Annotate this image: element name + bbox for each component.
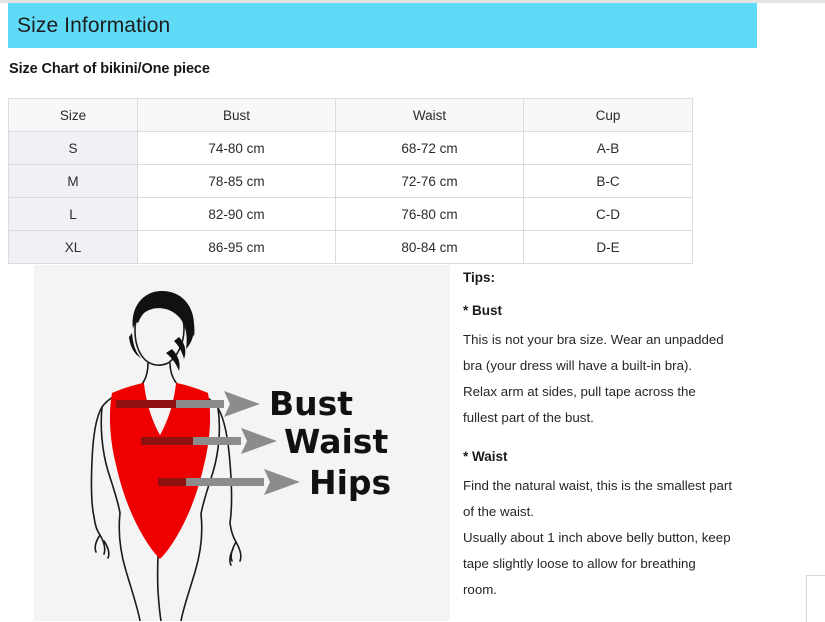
cell-size: S [9, 132, 138, 165]
table-row: M 78-85 cm 72-76 cm B-C [9, 165, 693, 198]
table-row: XL 86-95 cm 80-84 cm D-E [9, 231, 693, 264]
cell-size: L [9, 198, 138, 231]
cell-bust: 86-95 cm [138, 231, 336, 264]
size-chart-table: Size Bust Waist Cup S 74-80 cm 68-72 cm … [8, 98, 693, 264]
tip-line: of the waist. [463, 499, 763, 525]
body-figure-svg: Bust Waist Hips [34, 265, 450, 621]
bottom-section: Bust Waist Hips Tips: * Bust This is not… [0, 265, 825, 621]
cell-size: XL [9, 231, 138, 264]
table-header-row: Size Bust Waist Cup [9, 99, 693, 132]
cell-cup: C-D [524, 198, 693, 231]
page-banner: Size Information [8, 3, 757, 48]
label-waist: Waist [284, 422, 388, 461]
label-bust: Bust [269, 384, 353, 423]
tip-line: room. [463, 577, 763, 603]
tip-line: Usually about 1 inch above belly button,… [463, 525, 763, 551]
size-information-page: Size Information Size Chart of bikini/On… [0, 0, 825, 621]
tip-line: This is not your bra size. Wear an unpad… [463, 327, 763, 353]
cell-bust: 74-80 cm [138, 132, 336, 165]
tip-line: tape slightly loose to allow for breathi… [463, 551, 763, 577]
tip-line: Find the natural waist, this is the smal… [463, 473, 763, 499]
cell-bust: 78-85 cm [138, 165, 336, 198]
cell-bust: 82-90 cm [138, 198, 336, 231]
tip-title-waist: * Waist [463, 449, 763, 464]
tip-line: Relax arm at sides, pull tape across the [463, 379, 763, 405]
panel-corner-edge [806, 575, 825, 622]
column-header-waist: Waist [336, 99, 524, 132]
tip-line: bra (your dress will have a built-in bra… [463, 353, 763, 379]
page-title: Size Information [8, 14, 170, 38]
tips-panel: Tips: * Bust This is not your bra size. … [463, 270, 763, 621]
tips-heading: Tips: [463, 270, 763, 285]
cell-waist: 80-84 cm [336, 231, 524, 264]
table-row: S 74-80 cm 68-72 cm A-B [9, 132, 693, 165]
cell-waist: 76-80 cm [336, 198, 524, 231]
cell-cup: D-E [524, 231, 693, 264]
tip-block-bust: * Bust This is not your bra size. Wear a… [463, 303, 763, 431]
tip-line: fullest part of the bust. [463, 405, 763, 431]
column-header-size: Size [9, 99, 138, 132]
cell-cup: B-C [524, 165, 693, 198]
cell-cup: A-B [524, 132, 693, 165]
table-row: L 82-90 cm 76-80 cm C-D [9, 198, 693, 231]
column-header-cup: Cup [524, 99, 693, 132]
cell-waist: 72-76 cm [336, 165, 524, 198]
column-header-bust: Bust [138, 99, 336, 132]
tip-block-waist: * Waist Find the natural waist, this is … [463, 449, 763, 603]
label-hips: Hips [309, 463, 391, 502]
tip-title-bust: * Bust [463, 303, 763, 318]
cell-size: M [9, 165, 138, 198]
cell-waist: 68-72 cm [336, 132, 524, 165]
size-chart-subtitle: Size Chart of bikini/One piece [9, 61, 210, 77]
measurement-diagram: Bust Waist Hips [34, 265, 450, 621]
